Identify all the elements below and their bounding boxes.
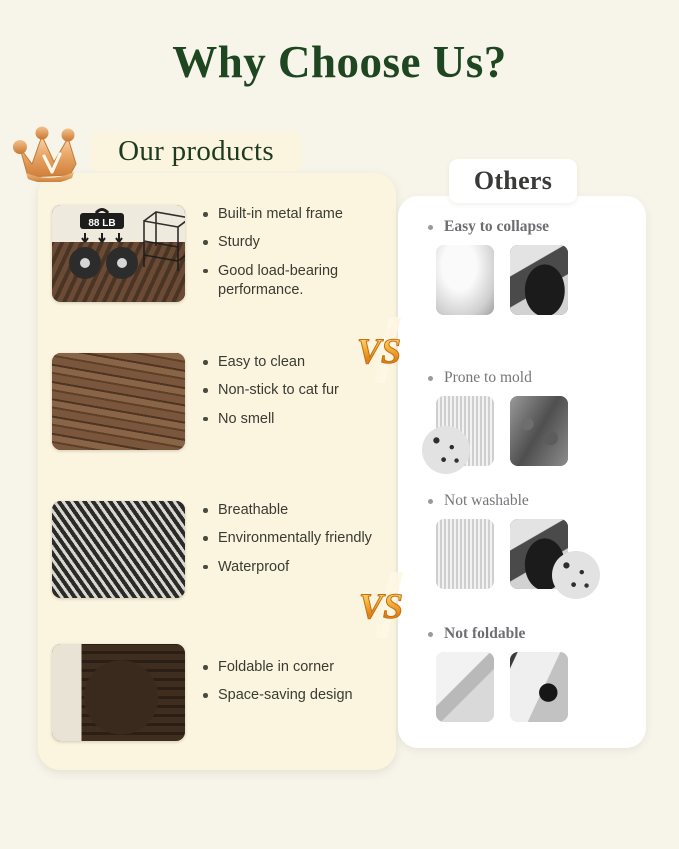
collapsed-dark-box-photo — [510, 245, 568, 315]
our-product-row: 88 LB Built-in metal frame — [52, 205, 390, 309]
breathable-mesh-panel-photo — [52, 501, 185, 598]
rigid-open-box-photo — [510, 652, 568, 722]
list-item: Breathable — [200, 501, 390, 520]
others-row: Prone to mold — [424, 369, 639, 468]
dirt-closeup — [552, 551, 600, 599]
others-row: Not foldable — [424, 625, 639, 724]
our-product-row: Easy to clean Non-stick to cat fur No sm… — [52, 353, 390, 450]
others-thumbnails — [424, 652, 639, 724]
others-item-label: Prone to mold — [424, 369, 639, 387]
list-item: Space-saving design — [200, 686, 390, 705]
list-item: Built-in metal frame — [200, 205, 390, 224]
vs-badge-top: VS — [350, 317, 412, 383]
others-header: Others — [449, 159, 577, 203]
others-header-text: Others — [474, 166, 552, 196]
our-product-row: Foldable in corner Space-saving design — [52, 644, 390, 741]
list-item: Environmentally friendly — [200, 529, 390, 548]
weight-badge-text: 88 LB — [88, 218, 115, 229]
our-products-header: Our products — [90, 131, 302, 171]
others-thumbnails — [424, 396, 639, 468]
others-row: Easy to collapse — [424, 218, 639, 317]
moldy-surface-photo — [510, 396, 568, 466]
others-thumbnails — [424, 245, 639, 317]
our-product-bullets: Foldable in corner Space-saving design — [200, 658, 390, 715]
others-item-label: Easy to collapse — [424, 218, 639, 236]
list-item: No smell — [200, 410, 390, 429]
our-products-header-text: Our products — [118, 135, 274, 168]
others-item-label: Not washable — [424, 492, 639, 510]
vs-label: VS — [357, 331, 401, 371]
vs-label: VS — [359, 586, 403, 626]
page-title: Why Choose Us? — [0, 36, 679, 88]
others-thumbnails — [424, 519, 639, 591]
others-item-label: Not foldable — [424, 625, 639, 643]
list-item: Good load-bearing performance. — [200, 262, 390, 301]
woven-rattan-texture-photo — [52, 353, 185, 450]
crown-icon — [8, 120, 94, 182]
our-product-row: Breathable Environmentally friendly Wate… — [52, 501, 390, 598]
list-item: Foldable in corner — [200, 658, 390, 677]
infographic-page: Why Choose Us? — [0, 0, 679, 849]
list-item: Sturdy — [200, 233, 390, 252]
collapsed-fabric-box-photo — [436, 245, 494, 315]
rigid-box-photo — [436, 652, 494, 722]
stained-fabric-box-photo — [436, 519, 494, 589]
list-item: Non-stick to cat fur — [200, 381, 390, 400]
folded-litter-box-photo — [52, 644, 185, 741]
mold-spots-closeup — [422, 426, 470, 474]
our-product-bullets: Built-in metal frame Sturdy Good load-be… — [200, 205, 390, 309]
vs-badge-bottom: VS — [352, 572, 414, 638]
others-row: Not washable — [424, 492, 639, 591]
metal-frame-basket-photo: 88 LB — [52, 205, 185, 302]
